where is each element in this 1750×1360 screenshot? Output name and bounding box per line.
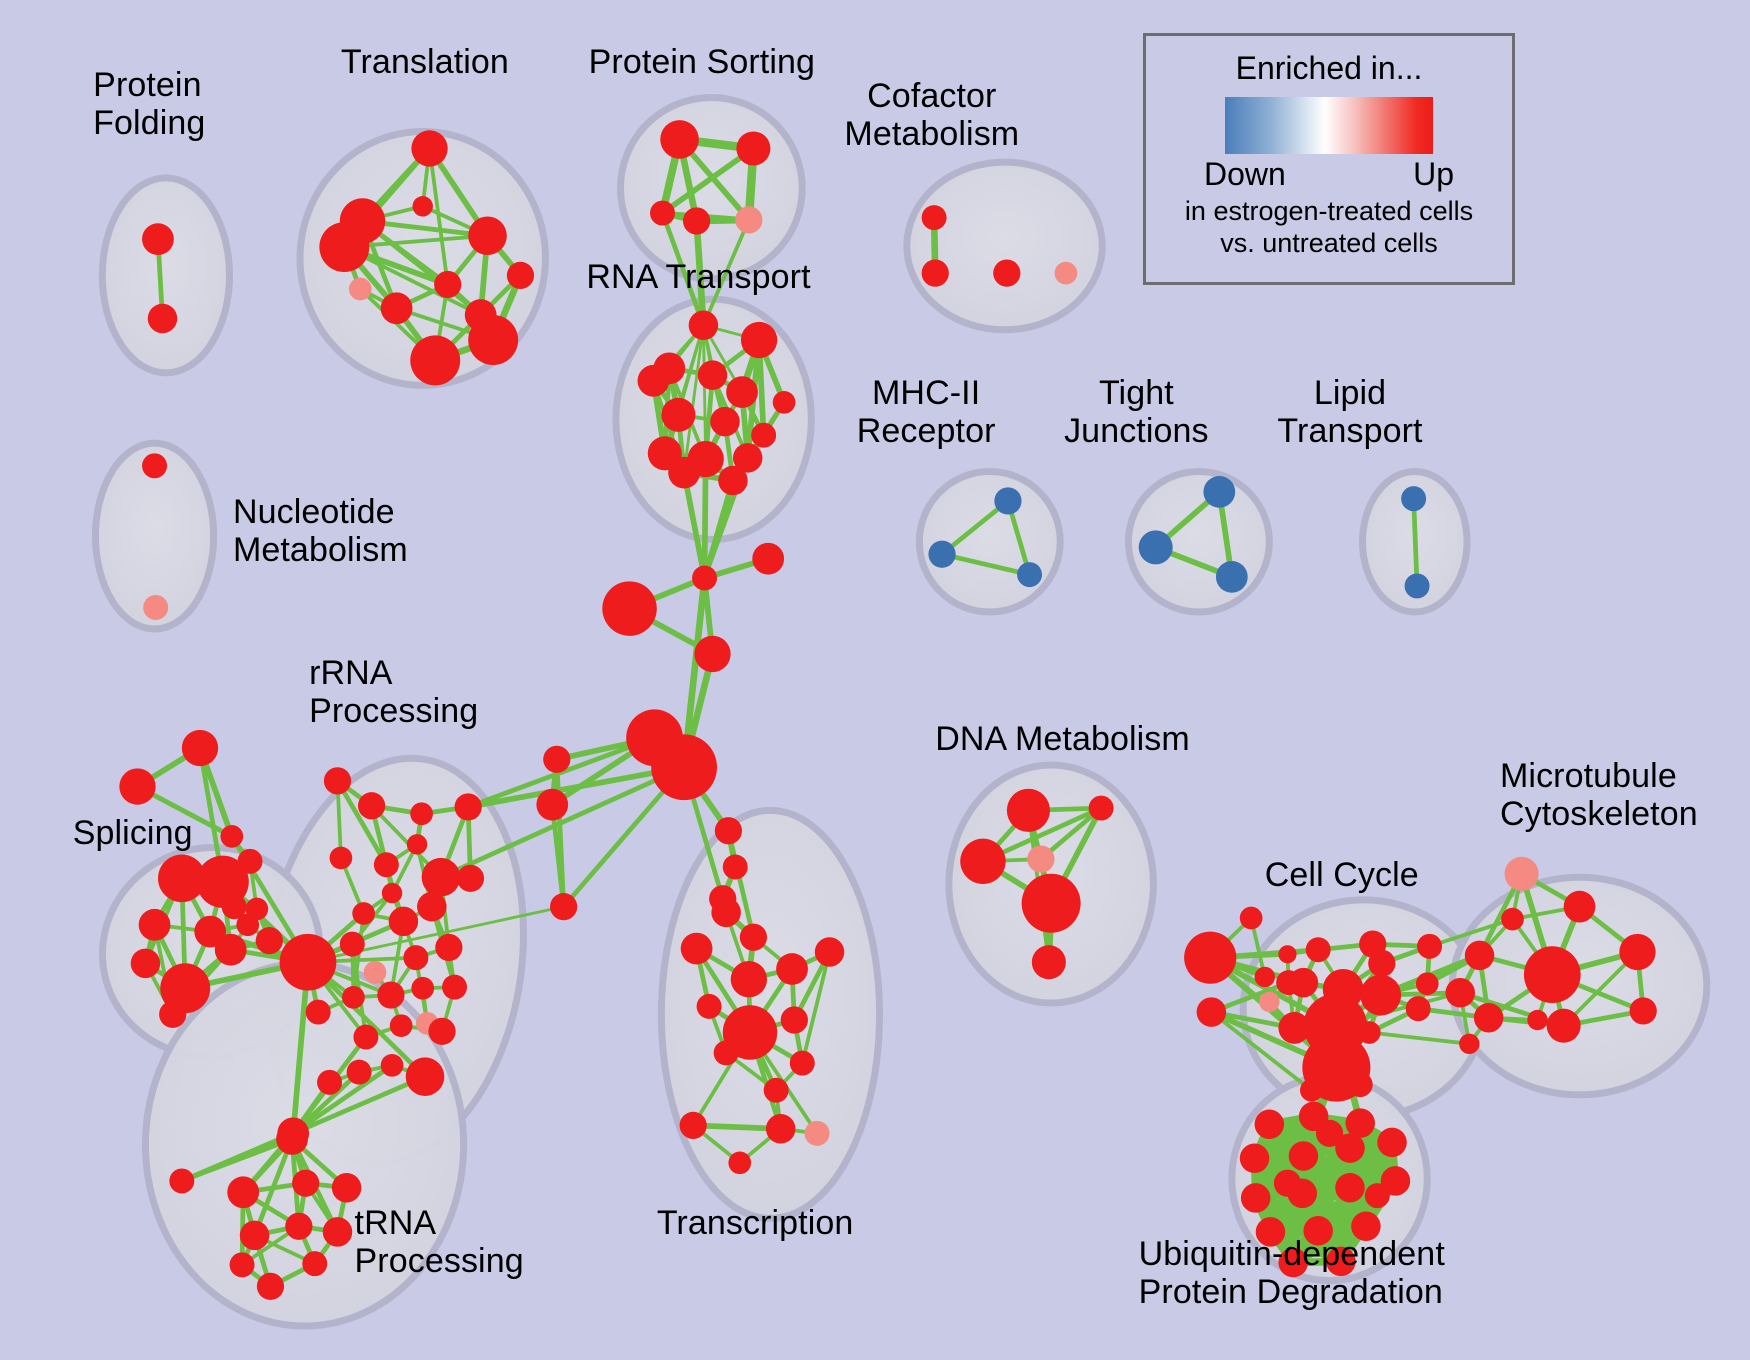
network-node-cell-cycle-6[interactable] xyxy=(1323,969,1364,1010)
network-node-translation-0[interactable] xyxy=(411,130,447,166)
legend-caption: in estrogen-treated cells vs. untreated … xyxy=(1185,195,1473,259)
network-node-rna-transport-7[interactable] xyxy=(661,398,695,432)
network-node-cell-cycle-4[interactable] xyxy=(1278,1012,1310,1044)
network-node-cell-cycle-10[interactable] xyxy=(1278,945,1296,963)
network-node-splicing-12[interactable] xyxy=(215,934,247,966)
network-node-rrna-processing-5[interactable] xyxy=(374,852,399,877)
network-node-rna-transport-0[interactable] xyxy=(689,311,719,341)
network-node-microtubule-cytoskeleton-1[interactable] xyxy=(1465,941,1495,971)
network-node-translation-6[interactable] xyxy=(413,196,433,216)
network-node-mhc-ii-receptor-1[interactable] xyxy=(928,541,955,568)
cluster-label-dna-metabolism: DNA Metabolism xyxy=(935,720,1190,758)
network-node-transcription-14[interactable] xyxy=(790,1051,815,1076)
network-node-rrna-processing-23[interactable] xyxy=(390,1014,413,1037)
legend-high-label: Up xyxy=(1413,156,1454,193)
network-node-cell-cycle-9[interactable] xyxy=(1306,937,1331,962)
network-node-mhc-ii-receptor-0[interactable] xyxy=(994,487,1021,514)
network-node-rrna-processing-16[interactable] xyxy=(435,934,462,961)
network-node-trna-processing-4[interactable] xyxy=(332,1173,362,1203)
network-node-rna-transport-3[interactable] xyxy=(638,365,670,397)
network-node-ubiquitin-protein-degradation-16[interactable] xyxy=(1316,1120,1343,1147)
network-node-rna-transport-1[interactable] xyxy=(741,322,777,358)
network-node-cell-cycle-21[interactable] xyxy=(1255,967,1275,987)
network-node-microtubule-cytoskeleton-6[interactable] xyxy=(1547,1009,1581,1043)
network-node-splicing-11[interactable] xyxy=(159,1001,186,1028)
network-node-transcription-12[interactable] xyxy=(728,1151,751,1174)
network-node-microtubule-cytoskeleton-4[interactable] xyxy=(1445,978,1475,1008)
network-node-rrna-processing-31[interactable] xyxy=(457,865,484,892)
network-node-translation-11[interactable] xyxy=(410,335,460,385)
network-node-nucleotide-metabolism-1[interactable] xyxy=(143,595,168,620)
network-node-ubiquitin-protein-degradation-18[interactable] xyxy=(1365,1183,1390,1208)
network-node-splicing-5[interactable] xyxy=(139,909,171,941)
network-node-translation-4[interactable] xyxy=(507,262,534,289)
network-node-rrna-processing-3[interactable] xyxy=(455,793,482,820)
network-node-rrna-processing-10[interactable] xyxy=(389,907,419,937)
network-node-ubiquitin-protein-degradation-0[interactable] xyxy=(1255,1110,1285,1140)
network-node-rrna-processing-18[interactable] xyxy=(342,986,365,1009)
network-node-rrna-processing-6[interactable] xyxy=(407,834,427,854)
edge-inter-cluster xyxy=(468,767,684,807)
cluster-label-protein-folding: Protein Folding xyxy=(93,66,205,142)
cluster-label-transcription: Transcription xyxy=(657,1204,854,1242)
network-node-cofactor-metabolism-3[interactable] xyxy=(1055,262,1078,285)
network-node-trna-processing-1[interactable] xyxy=(276,1123,308,1155)
network-node-microtubule-cytoskeleton-0[interactable] xyxy=(1505,857,1539,891)
network-node-trna-processing-6[interactable] xyxy=(285,1213,312,1240)
network-node-splicing-1[interactable] xyxy=(119,768,155,804)
network-node-protein-folding-1[interactable] xyxy=(148,304,178,334)
network-node-translation-9[interactable] xyxy=(381,292,413,324)
network-node-rrna-processing-28[interactable] xyxy=(347,1060,372,1085)
cluster-label-tight-junctions: Tight Junctions xyxy=(1064,374,1209,450)
network-node-microtubule-cytoskeleton-3[interactable] xyxy=(1524,946,1581,1003)
network-node-bridge-chain-7[interactable] xyxy=(536,789,568,821)
network-node-rrna-processing-0[interactable] xyxy=(358,792,385,819)
network-node-splicing-2[interactable] xyxy=(220,825,243,848)
network-node-cell-cycle-20[interactable] xyxy=(1368,950,1395,977)
network-node-transcription-4[interactable] xyxy=(776,953,808,985)
legend-endpoint-labels: Down Up xyxy=(1204,156,1454,193)
network-node-trna-processing-9[interactable] xyxy=(302,1251,327,1276)
cluster-halo-protein-sorting xyxy=(620,97,802,278)
network-node-transcription-1[interactable] xyxy=(740,924,767,951)
legend-box: Enriched in... Down Up in estrogen-treat… xyxy=(1143,33,1515,285)
network-node-protein-folding-0[interactable] xyxy=(142,223,174,255)
network-node-translation-10[interactable] xyxy=(468,315,518,365)
network-node-rrna-processing-15[interactable] xyxy=(403,945,428,970)
network-node-bridge-chain-9[interactable] xyxy=(550,893,577,920)
network-node-microtubule-cytoskeleton-11[interactable] xyxy=(1459,1034,1479,1054)
network-node-ubiquitin-protein-degradation-7[interactable] xyxy=(1241,1183,1271,1213)
network-node-cell-cycle-7[interactable] xyxy=(1360,975,1401,1016)
network-node-transcription-11[interactable] xyxy=(805,1121,830,1146)
network-node-rrna-processing-17[interactable] xyxy=(306,1000,331,1025)
network-node-transcription-15[interactable] xyxy=(764,1078,789,1103)
network-node-rrna-processing-30[interactable] xyxy=(406,1057,445,1096)
network-node-transcription-0[interactable] xyxy=(711,898,741,928)
cluster-halo-transcription xyxy=(661,810,879,1218)
network-node-cell-cycle-14[interactable] xyxy=(1416,972,1439,995)
network-node-rrna-processing-25[interactable] xyxy=(428,1018,455,1045)
network-node-rrna-processing-7[interactable] xyxy=(330,847,353,870)
network-node-rna-transport-13[interactable] xyxy=(668,457,700,489)
network-node-rrna-processing-4[interactable] xyxy=(422,858,461,897)
network-node-rrna-processing-27[interactable] xyxy=(317,1070,342,1095)
cluster-label-rna-transport: RNA Transport xyxy=(586,258,810,296)
network-node-dna-metabolism-3[interactable] xyxy=(1027,845,1054,872)
network-node-nucleotide-metabolism-0[interactable] xyxy=(142,453,167,478)
network-node-rrna-processing-1[interactable] xyxy=(410,802,433,825)
network-node-rrna-processing-19[interactable] xyxy=(377,981,404,1008)
network-node-splicing-13[interactable] xyxy=(238,849,263,874)
network-node-splicing-15[interactable] xyxy=(256,927,283,954)
network-node-bridge-chain-2[interactable] xyxy=(602,581,656,635)
network-node-transcription-5[interactable] xyxy=(815,937,845,967)
network-node-splicing-0[interactable] xyxy=(182,730,218,766)
network-node-protein-sorting-0[interactable] xyxy=(660,120,699,159)
network-node-transcription-13[interactable] xyxy=(714,1040,739,1065)
cluster-label-ubiquitin-protein-degradation: Ubiquitin-dependent Protein Degradation xyxy=(1139,1235,1445,1311)
network-node-rna-transport-6[interactable] xyxy=(773,391,796,414)
cluster-label-rrna-processing: rRNA Processing xyxy=(309,654,478,730)
cluster-label-cell-cycle: Cell Cycle xyxy=(1265,856,1419,894)
network-node-tight-junctions-1[interactable] xyxy=(1139,530,1173,564)
network-node-translation-5[interactable] xyxy=(434,271,461,298)
legend-caption-line-2: vs. untreated cells xyxy=(1185,227,1473,259)
network-node-rrna-processing-2[interactable] xyxy=(324,767,351,794)
cluster-label-microtubule-cytoskeleton: Microtubule Cytoskeleton xyxy=(1500,757,1698,833)
network-node-cell-cycle-16[interactable] xyxy=(1300,1079,1323,1102)
network-node-bridge-chain-3[interactable] xyxy=(694,636,730,672)
network-node-cell-cycle-19[interactable] xyxy=(1259,992,1279,1012)
cluster-label-cofactor-metabolism: Cofactor Metabolism xyxy=(844,77,1019,153)
network-node-bridge-chain-8[interactable] xyxy=(715,817,742,844)
network-node-bridge-chain-6[interactable] xyxy=(543,746,570,773)
network-node-transcription-2[interactable] xyxy=(681,933,713,965)
cluster-label-trna-processing: tRNA Processing xyxy=(355,1204,524,1280)
network-node-microtubule-cytoskeleton-9[interactable] xyxy=(1501,908,1524,931)
network-node-lipid-transport-0[interactable] xyxy=(1401,486,1426,511)
network-node-bridge-chain-5[interactable] xyxy=(651,734,717,800)
network-node-rna-transport-4[interactable] xyxy=(698,360,728,390)
network-node-cofactor-metabolism-1[interactable] xyxy=(922,260,949,287)
network-node-protein-sorting-4[interactable] xyxy=(735,206,762,233)
network-node-trna-processing-10[interactable] xyxy=(230,1252,255,1277)
network-node-microtubule-cytoskeleton-8[interactable] xyxy=(1630,997,1657,1024)
network-node-cofactor-metabolism-2[interactable] xyxy=(993,260,1020,287)
cluster-label-protein-sorting: Protein Sorting xyxy=(589,43,815,81)
network-node-transcription-9[interactable] xyxy=(680,1112,707,1139)
network-node-trna-processing-0[interactable] xyxy=(169,1168,194,1193)
cluster-label-mhc-ii-receptor: MHC-II Receptor xyxy=(857,374,996,450)
network-node-transcription-7[interactable] xyxy=(697,994,722,1019)
network-node-rrna-processing-11[interactable] xyxy=(417,892,447,922)
network-node-splicing-7[interactable] xyxy=(131,949,161,979)
network-node-cell-cycle-2[interactable] xyxy=(1184,932,1236,984)
network-node-cell-cycle-12[interactable] xyxy=(1358,1021,1381,1044)
network-node-cell-cycle-15[interactable] xyxy=(1417,934,1442,959)
network-node-cell-cycle-13[interactable] xyxy=(1406,996,1431,1021)
network-node-rrna-processing-29[interactable] xyxy=(381,1054,404,1077)
network-node-translation-8[interactable] xyxy=(349,278,372,301)
network-node-transcription-3[interactable] xyxy=(731,961,767,997)
network-node-rrna-processing-22[interactable] xyxy=(353,1025,378,1050)
network-node-cell-cycle-18[interactable] xyxy=(1240,907,1263,930)
network-node-protein-sorting-3[interactable] xyxy=(683,207,710,234)
network-node-trna-processing-8[interactable] xyxy=(257,1273,284,1300)
network-node-cell-cycle-11[interactable] xyxy=(1276,970,1301,995)
network-node-dna-metabolism-1[interactable] xyxy=(1089,796,1114,821)
legend-low-label: Down xyxy=(1204,156,1286,193)
network-node-translation-3[interactable] xyxy=(319,222,369,272)
network-node-trna-processing-2[interactable] xyxy=(227,1176,259,1208)
legend-title: Enriched in... xyxy=(1236,50,1423,87)
network-node-dna-metabolism-5[interactable] xyxy=(1032,945,1066,979)
network-node-lipid-transport-1[interactable] xyxy=(1405,573,1430,598)
network-node-transcription-8[interactable] xyxy=(781,1006,808,1033)
network-node-rna-transport-9[interactable] xyxy=(751,423,776,448)
cluster-label-nucleotide-metabolism: Nucleotide Metabolism xyxy=(233,493,408,569)
network-node-ubiquitin-protein-degradation-4[interactable] xyxy=(1289,1141,1319,1171)
network-node-dna-metabolism-2[interactable] xyxy=(960,839,1005,884)
legend-caption-line-1: in estrogen-treated cells xyxy=(1185,195,1473,227)
network-node-bridge-chain-10[interactable] xyxy=(723,855,748,880)
network-node-ubiquitin-protein-degradation-6[interactable] xyxy=(1377,1128,1407,1158)
network-node-ubiquitin-protein-degradation-9[interactable] xyxy=(1335,1173,1365,1203)
network-node-rna-transport-14[interactable] xyxy=(718,466,748,496)
network-node-splicing-14[interactable] xyxy=(245,898,268,921)
network-node-tight-junctions-0[interactable] xyxy=(1203,476,1235,508)
network-node-protein-sorting-2[interactable] xyxy=(650,201,675,226)
network-node-mhc-ii-receptor-2[interactable] xyxy=(1017,562,1042,587)
network-node-rrna-processing-9[interactable] xyxy=(352,902,375,925)
network-node-microtubule-cytoskeleton-5[interactable] xyxy=(1474,1003,1504,1033)
network-node-rrna-processing-12[interactable] xyxy=(280,934,337,991)
network-node-transcription-10[interactable] xyxy=(766,1114,796,1144)
network-node-rna-transport-5[interactable] xyxy=(726,376,758,408)
network-node-bridge-chain-1[interactable] xyxy=(752,543,784,575)
cluster-label-translation: Translation xyxy=(341,43,509,81)
network-node-rrna-processing-20[interactable] xyxy=(411,977,434,1000)
network-node-trna-processing-3[interactable] xyxy=(292,1170,319,1197)
network-node-bridge-chain-0[interactable] xyxy=(692,566,717,591)
cluster-label-splicing: Splicing xyxy=(73,814,193,852)
cluster-label-lipid-transport: Lipid Transport xyxy=(1277,374,1422,450)
network-node-rrna-processing-14[interactable] xyxy=(364,961,387,984)
network-node-tight-junctions-2[interactable] xyxy=(1216,561,1248,593)
network-node-protein-sorting-1[interactable] xyxy=(736,131,770,165)
network-node-dna-metabolism-0[interactable] xyxy=(1007,789,1050,832)
network-node-translation-2[interactable] xyxy=(468,216,507,255)
network-node-cell-cycle-3[interactable] xyxy=(1197,997,1227,1027)
network-node-cofactor-metabolism-0[interactable] xyxy=(922,205,947,230)
network-node-dna-metabolism-4[interactable] xyxy=(1022,874,1081,933)
network-node-rrna-processing-8[interactable] xyxy=(382,883,402,903)
network-node-trna-processing-5[interactable] xyxy=(240,1221,270,1251)
network-node-microtubule-cytoskeleton-10[interactable] xyxy=(1527,1010,1547,1030)
network-node-rna-transport-8[interactable] xyxy=(710,407,740,437)
legend-color-gradient-bar xyxy=(1225,97,1433,154)
network-node-cell-cycle-17[interactable] xyxy=(1348,1072,1373,1097)
network-node-microtubule-cytoskeleton-7[interactable] xyxy=(1619,934,1655,970)
network-node-ubiquitin-protein-degradation-17[interactable] xyxy=(1274,1170,1301,1197)
network-node-ubiquitin-protein-degradation-3[interactable] xyxy=(1240,1144,1270,1174)
network-node-rrna-processing-21[interactable] xyxy=(442,975,467,1000)
cluster-halo-protein-folding xyxy=(102,178,229,373)
figure-canvas: Protein FoldingTranslationProtein Sortin… xyxy=(0,0,1750,1360)
network-node-microtubule-cytoskeleton-2[interactable] xyxy=(1564,891,1596,923)
network-node-rrna-processing-13[interactable] xyxy=(340,932,365,957)
network-node-trna-processing-7[interactable] xyxy=(323,1217,353,1247)
